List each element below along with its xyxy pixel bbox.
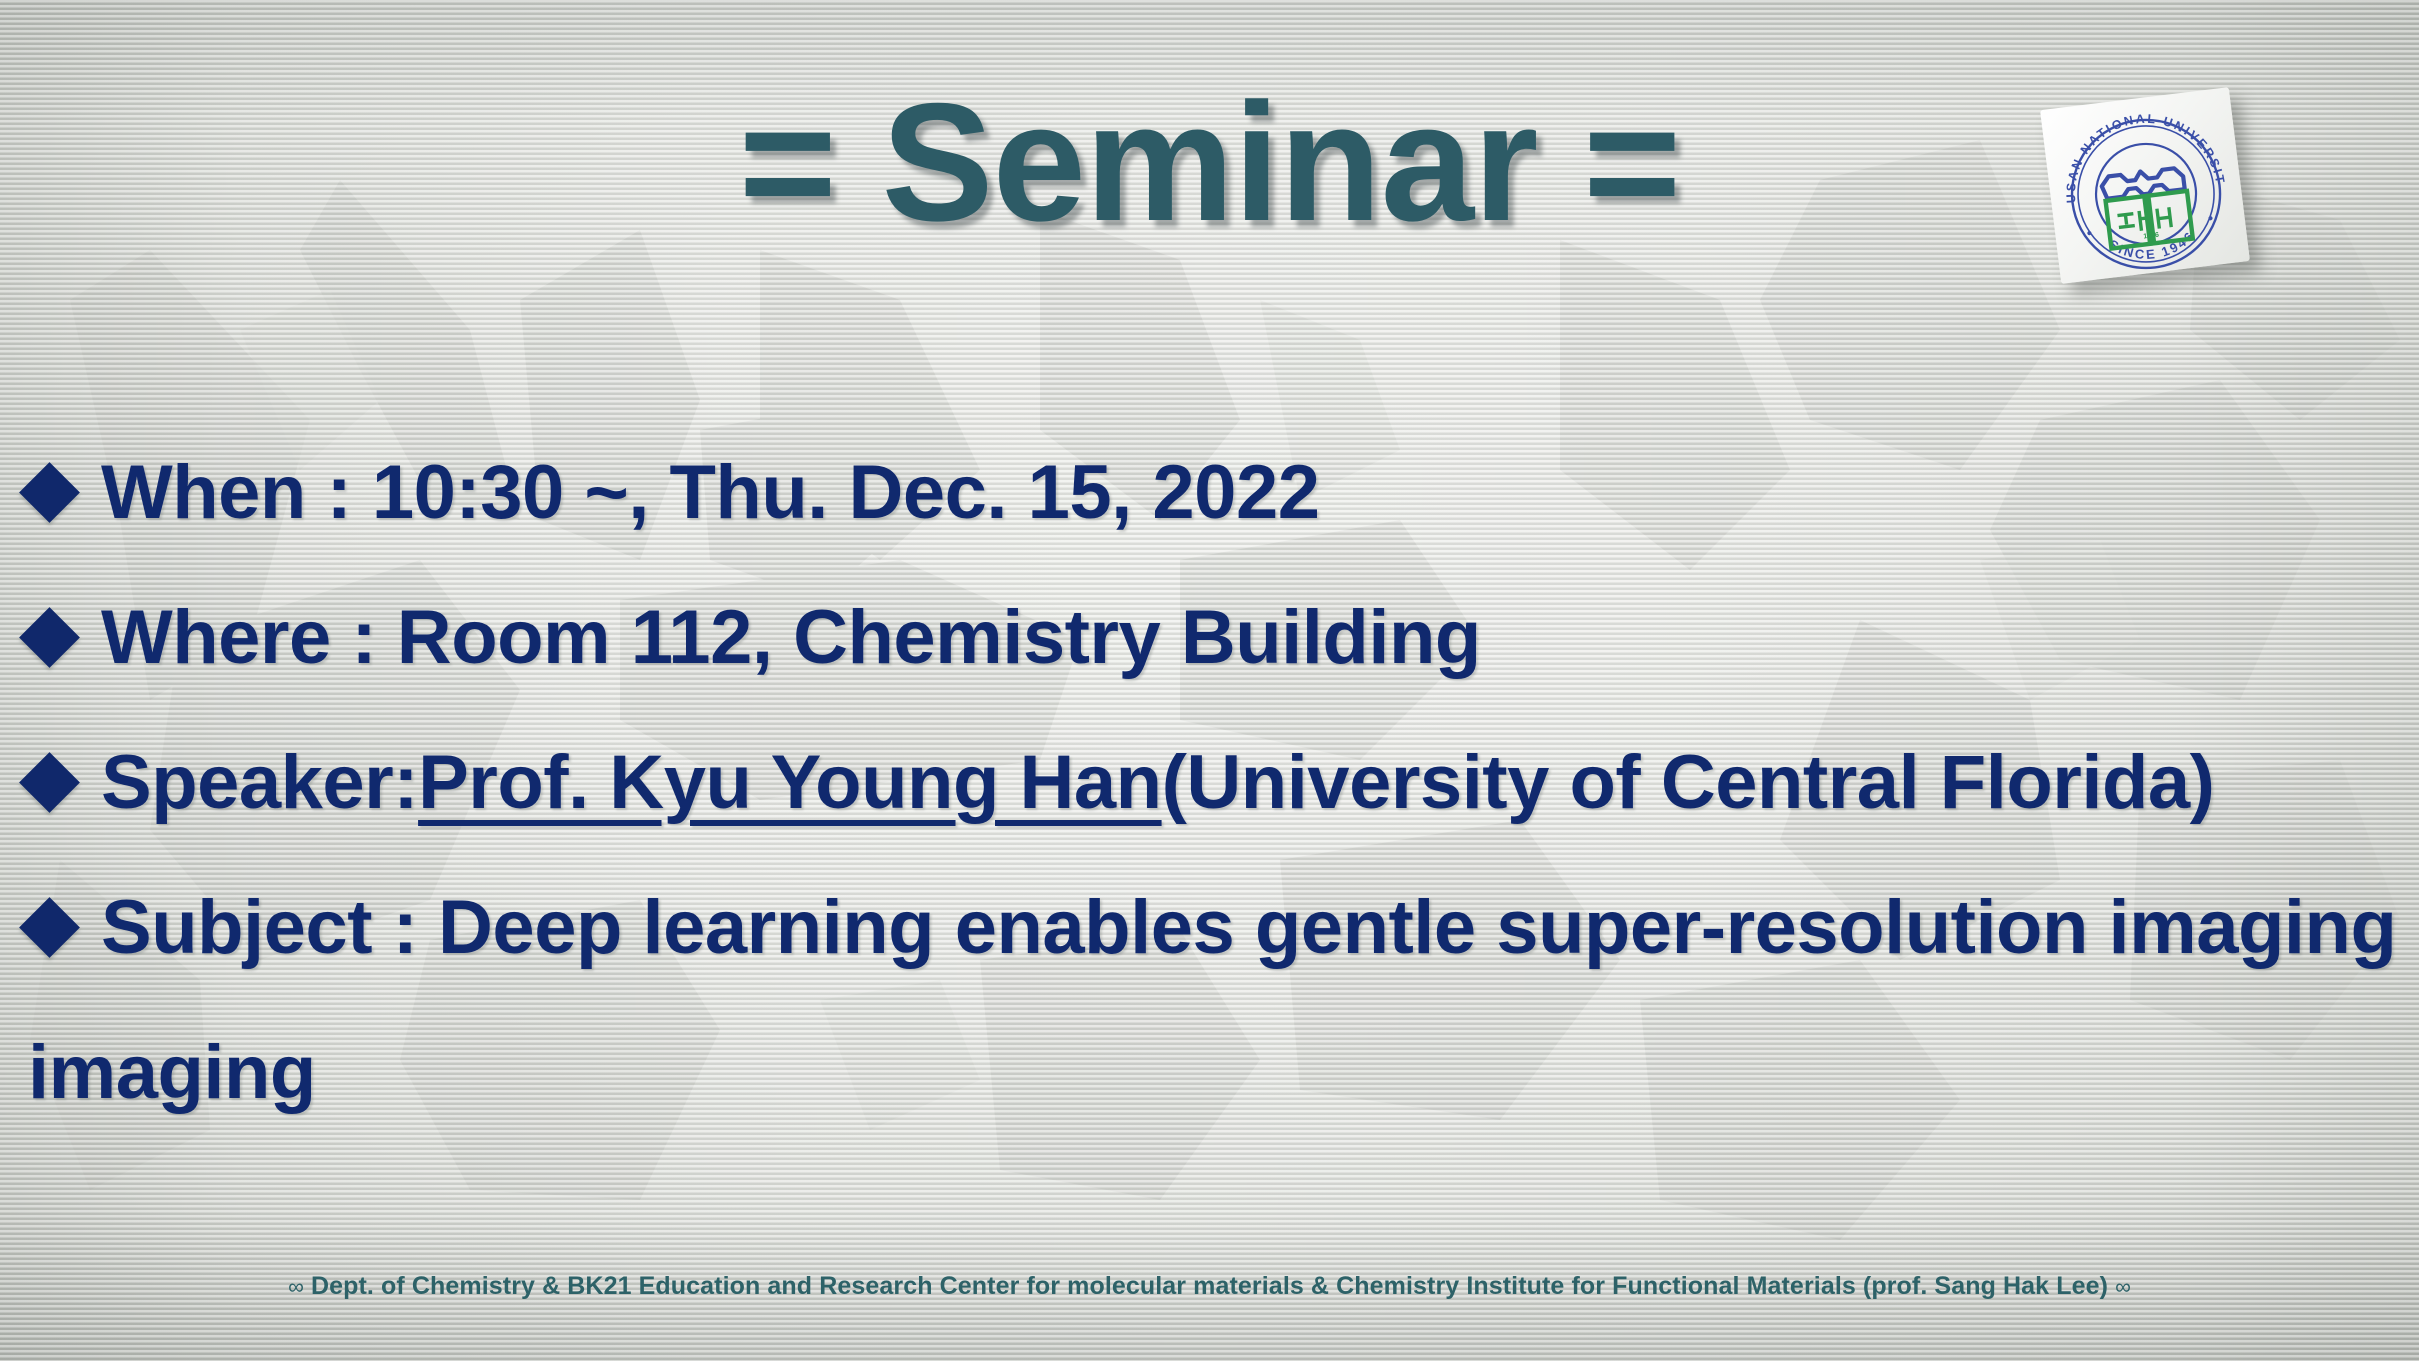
bullet-speaker-name: Prof. Kyu Young Han xyxy=(418,745,1162,821)
university-logo: PUSAN NATIONAL UNIVERSITY SINCE 1946 194… xyxy=(2044,96,2269,301)
bullet-when: When : 10:30 ~, Thu. Dec. 15, 2022 xyxy=(14,420,2414,565)
bullet-subject: Subject : Deep learning enables gentle s… xyxy=(14,855,2414,1000)
bullet-speaker-label: Speaker xyxy=(101,745,393,821)
bullet-subject-wrap: imaging xyxy=(14,1000,2414,1145)
page-title: = Seminar = xyxy=(739,78,1681,246)
pusan-national-university-seal-icon: PUSAN NATIONAL UNIVERSITY SINCE 1946 194… xyxy=(2040,87,2250,284)
infinity-left-icon: ∞ xyxy=(288,1274,304,1299)
footer: ∞ Dept. of Chemistry & BK21 Education an… xyxy=(0,1272,2419,1301)
bullet-when-text: When : 10:30 ~, Thu. Dec. 15, 2022 xyxy=(101,455,1319,531)
bullet-where: Where : Room 112, Chemistry Building xyxy=(14,565,2414,710)
seminar-slide: = Seminar = PUSAN NATIONAL UNIVERSITY SI… xyxy=(0,0,2419,1361)
infinity-right-icon: ∞ xyxy=(2115,1274,2131,1299)
bullet-speaker: Speaker : Prof. Kyu Young Han (Universit… xyxy=(14,710,2414,855)
diamond-bullet-icon xyxy=(19,897,80,958)
bullet-subject-text: Subject : Deep learning enables gentle s… xyxy=(101,890,2396,966)
bullet-speaker-affiliation: (University of Central Florida) xyxy=(1162,745,2215,821)
seminar-details: When : 10:30 ~, Thu. Dec. 15, 2022 Where… xyxy=(14,420,2414,1145)
bullet-speaker-separator: : xyxy=(393,745,418,821)
bullet-subject-wrap-text: imaging xyxy=(28,1035,316,1111)
diamond-bullet-icon xyxy=(19,607,80,668)
diamond-bullet-icon xyxy=(19,752,80,813)
bullet-where-text: Where : Room 112, Chemistry Building xyxy=(101,600,1481,676)
diamond-bullet-icon xyxy=(19,462,80,523)
svg-text:1946: 1946 xyxy=(2143,232,2159,241)
footer-text: Dept. of Chemistry & BK21 Education and … xyxy=(311,1272,2108,1300)
